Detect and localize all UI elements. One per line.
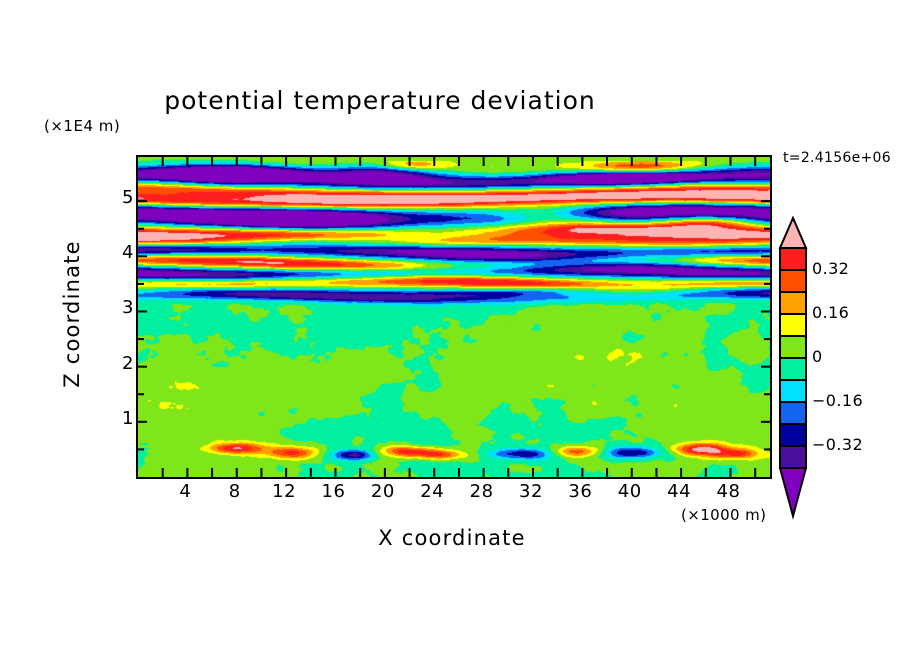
x-tick-label: 12 <box>262 481 306 502</box>
axis-tick-overlay <box>138 157 770 477</box>
y-tick-label: 3 <box>104 297 134 318</box>
x-axis-unit-label: (×1000 m) <box>681 506 766 524</box>
colorbar-band <box>780 248 806 270</box>
colorbar-band <box>780 358 806 380</box>
x-tick-label: 48 <box>707 481 751 502</box>
x-tick-label: 24 <box>410 481 454 502</box>
x-tick-label: 44 <box>657 481 701 502</box>
y-tick-label: 4 <box>104 242 134 263</box>
colorbar-label: −0.16 <box>812 391 863 410</box>
colorbar-band <box>780 402 806 424</box>
colorbar-cap-high <box>780 218 806 248</box>
page-title: potential temperature deviation <box>0 86 760 115</box>
colorbar-label: 0 <box>812 347 823 366</box>
x-tick-label: 36 <box>558 481 602 502</box>
x-axis-title: X coordinate <box>136 526 768 550</box>
colorbar-band <box>780 314 806 336</box>
x-tick-label: 28 <box>460 481 504 502</box>
colorbar-label: 0.16 <box>812 303 849 322</box>
colorbar-band <box>780 336 806 358</box>
y-axis-unit-label: (×1E4 m) <box>44 117 120 135</box>
x-tick-label: 8 <box>213 481 257 502</box>
x-tick-label: 20 <box>361 481 405 502</box>
time-annotation: t=2.4156e+06 <box>783 150 891 166</box>
x-tick-label: 16 <box>312 481 356 502</box>
colorbar-label: 0.32 <box>812 259 849 278</box>
contour-plot-area[interactable] <box>136 155 772 479</box>
y-axis-title: Z coordinate <box>60 214 84 414</box>
figure-root: potential temperature deviation (×1E4 m)… <box>0 0 904 654</box>
colorbar-label: −0.32 <box>812 435 863 454</box>
x-tick-label: 4 <box>163 481 207 502</box>
colorbar[interactable] <box>776 216 812 526</box>
colorbar-cap-low <box>780 468 806 516</box>
x-tick-label: 40 <box>608 481 652 502</box>
colorbar-band <box>780 292 806 314</box>
y-tick-label: 2 <box>104 353 134 374</box>
colorbar-band <box>780 270 806 292</box>
colorbar-band <box>780 446 806 468</box>
y-tick-label: 5 <box>104 187 134 208</box>
y-tick-label: 1 <box>104 408 134 429</box>
x-tick-label: 32 <box>509 481 553 502</box>
colorbar-band <box>780 380 806 402</box>
colorbar-band <box>780 424 806 446</box>
